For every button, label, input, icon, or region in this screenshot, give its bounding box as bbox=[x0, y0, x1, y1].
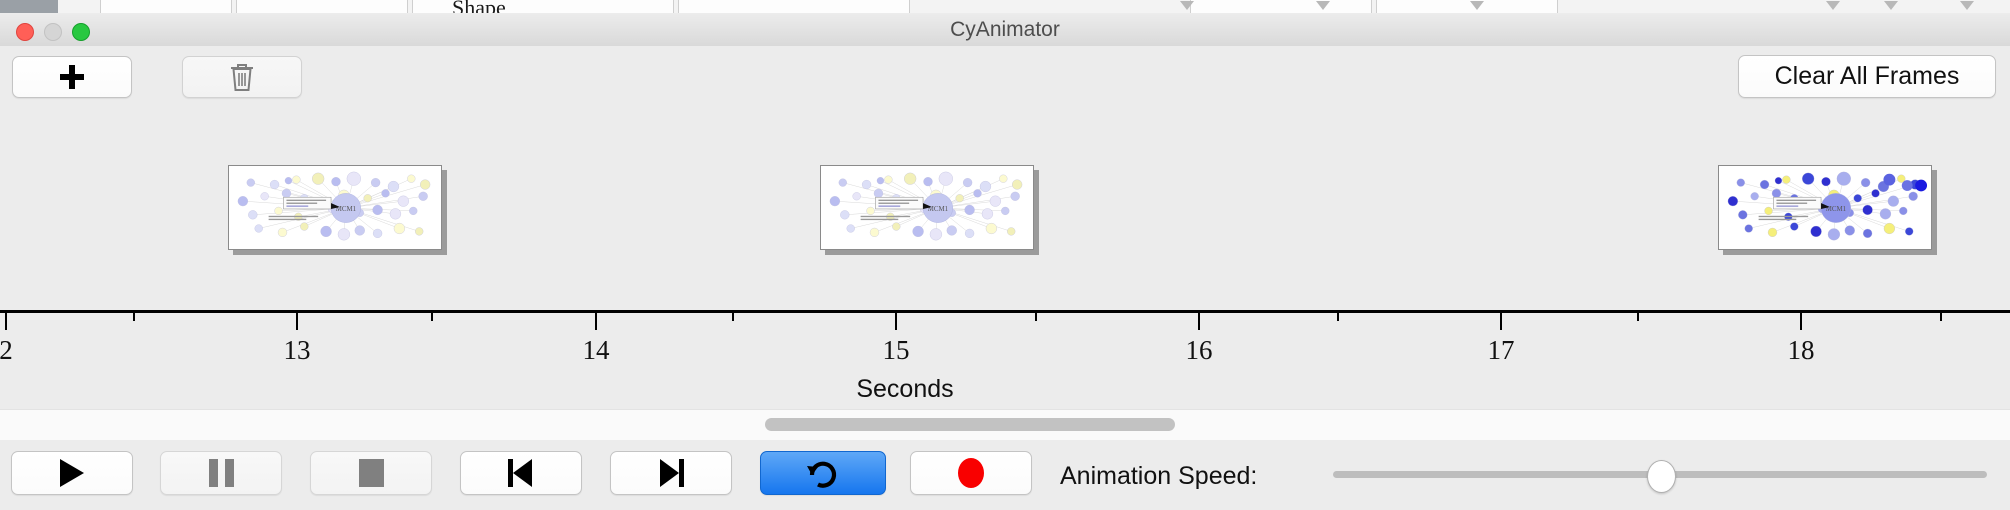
timeline-tick bbox=[133, 310, 135, 321]
trash-icon bbox=[228, 61, 256, 93]
timeline-scrollbar-thumb[interactable] bbox=[765, 418, 1175, 431]
play-icon bbox=[60, 459, 84, 487]
loop-button[interactable] bbox=[760, 451, 886, 495]
timeline-axis bbox=[0, 310, 2010, 313]
skip-back-icon bbox=[508, 459, 534, 487]
plus-icon bbox=[60, 65, 84, 89]
timeline-tick bbox=[1035, 310, 1037, 321]
timeline-tick-label: 14 bbox=[583, 335, 610, 366]
timeline-tick-label: 17 bbox=[1488, 335, 1515, 366]
timeline-tick-label: 16 bbox=[1186, 335, 1213, 366]
clear-all-frames-label: Clear All Frames bbox=[1775, 62, 1960, 91]
timeline-tick bbox=[1198, 310, 1200, 330]
window-title: CyAnimator bbox=[0, 13, 2010, 46]
frame-toolbar: Clear All Frames bbox=[0, 46, 2010, 108]
loop-icon bbox=[806, 456, 840, 490]
animation-speed-slider-thumb[interactable] bbox=[1647, 460, 1676, 493]
cyanimator-window: Shape CyAnimator Clear All Frames 213141… bbox=[0, 0, 2010, 510]
timeline-tick bbox=[595, 310, 597, 330]
title-bar: CyAnimator bbox=[0, 13, 2010, 47]
pause-icon bbox=[209, 459, 234, 487]
skip-forward-icon bbox=[658, 459, 684, 487]
timeline-tick bbox=[5, 310, 7, 330]
timeline-tick bbox=[431, 310, 433, 321]
skip-back-button[interactable] bbox=[460, 451, 582, 495]
timeline-tick-label: 13 bbox=[284, 335, 311, 366]
delete-frame-button[interactable] bbox=[182, 56, 302, 98]
timeline-tick bbox=[1500, 310, 1502, 330]
timeline-tick bbox=[1337, 310, 1339, 321]
timeline-axis-title-label: Seconds bbox=[856, 375, 953, 403]
add-frame-button[interactable] bbox=[12, 56, 132, 98]
timeline-tick-label: 2 bbox=[0, 335, 13, 366]
timeline-tick bbox=[1940, 310, 1942, 321]
timeline-axis-title: Seconds bbox=[0, 375, 2010, 404]
frame-thumbnail-2[interactable]: MCM1 bbox=[820, 165, 1034, 250]
timeline-tick bbox=[895, 310, 897, 330]
frame-thumbnail-3[interactable]: MCM1 bbox=[1718, 165, 1932, 250]
stop-button[interactable] bbox=[310, 451, 432, 495]
background-window-strip: Shape bbox=[0, 0, 2010, 14]
timeline-panel[interactable]: 2131415161718 MCM1MCM1MCM1 Seconds bbox=[0, 107, 2010, 409]
record-icon bbox=[958, 458, 984, 488]
timeline-tick bbox=[1800, 310, 1802, 330]
clear-all-frames-button[interactable]: Clear All Frames bbox=[1738, 55, 1996, 98]
timeline-tick-label: 15 bbox=[883, 335, 910, 366]
timeline-tick bbox=[1637, 310, 1639, 321]
pause-button[interactable] bbox=[160, 451, 282, 495]
animation-speed-label: Animation Speed: bbox=[1060, 462, 1257, 491]
skip-forward-button[interactable] bbox=[610, 451, 732, 495]
timeline-tick-label: 18 bbox=[1788, 335, 1815, 366]
record-button[interactable] bbox=[910, 451, 1032, 495]
timeline-scrollbar[interactable] bbox=[0, 409, 2010, 441]
background-window-label: Shape bbox=[452, 0, 506, 14]
playback-control-bar: Animation Speed: bbox=[0, 440, 2010, 510]
timeline-tick bbox=[732, 310, 734, 321]
frame-thumbnail-1[interactable]: MCM1 bbox=[228, 165, 442, 250]
timeline-tick bbox=[296, 310, 298, 330]
play-button[interactable] bbox=[11, 451, 133, 495]
stop-icon bbox=[359, 459, 384, 487]
